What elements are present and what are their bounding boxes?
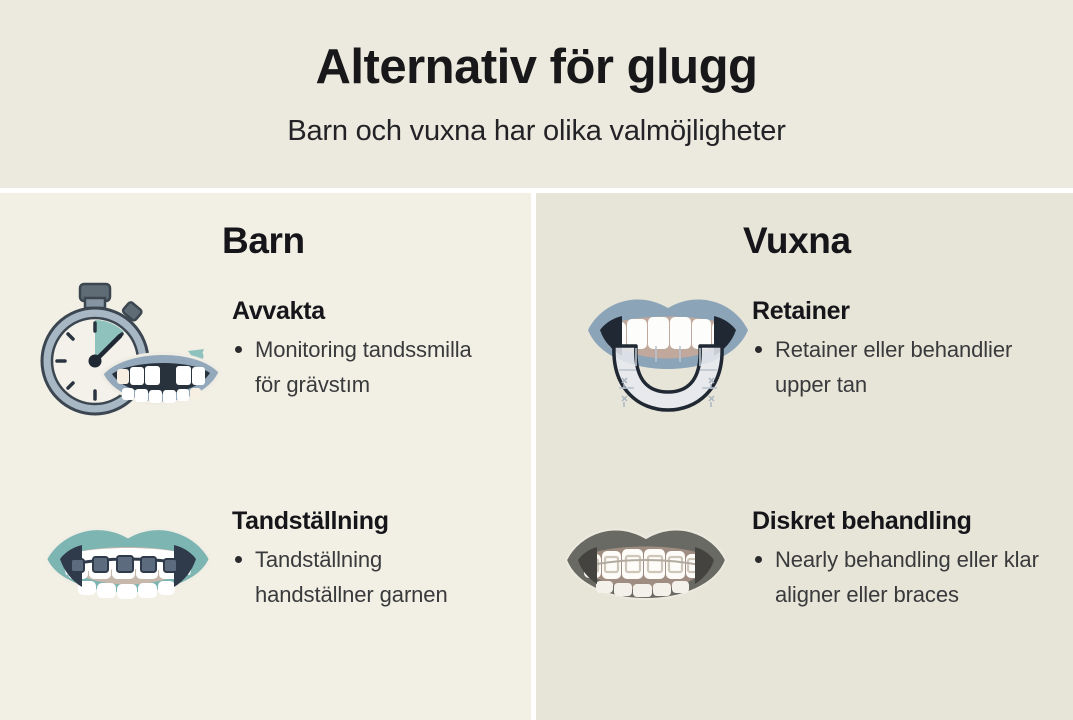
entry-bullet-diskret-behandling: Nearly behandling eller klar aligner ell… [752, 542, 1042, 612]
entry-title-diskret-behandling: Diskret behandling [752, 507, 1042, 536]
stopwatch-gap-smile-icon [38, 278, 228, 443]
clear-aligner-smile-icon [556, 516, 736, 626]
entry-text-avvakta: Avvakta Monitoring tandssmilla för grävs… [232, 297, 492, 402]
panel-adults: Vuxna [536, 193, 1073, 720]
page-subtitle: Barn och vuxna har olika valmöjligheter [0, 115, 1073, 148]
entry-bullet-text: Tandställning handställner garnen [255, 547, 448, 607]
entry-diskret-behandling: Diskret behandling Nearly behandling ell… [536, 488, 1073, 648]
entry-bullet-retainer: Retainer eller behandlier upper tan [752, 332, 1032, 402]
page-title: Alternativ för glugg [0, 40, 1073, 95]
entry-bullet-text: Retainer eller behandlier upper tan [775, 337, 1012, 397]
header-banner: Alternativ för glugg Barn och vuxna har … [0, 0, 1073, 188]
entry-text-tandstallning: Tandställning Tandställning handställner… [232, 507, 502, 612]
entry-avvakta: Avvakta Monitoring tandssmilla för grävs… [0, 278, 531, 458]
comparison-panels: Barn [0, 193, 1073, 720]
entry-text-retainer: Retainer Retainer eller behandlier upper… [752, 297, 1032, 402]
entry-bullet-tandstallning: Tandställning handställner garnen [232, 542, 502, 612]
bullet-dot [755, 556, 762, 563]
bullet-dot [235, 556, 242, 563]
entry-title-retainer: Retainer [752, 297, 1032, 326]
entry-text-diskret-behandling: Diskret behandling Nearly behandling ell… [752, 507, 1042, 612]
braces-smile-icon [38, 513, 218, 623]
panel-heading-children: Barn [222, 220, 305, 262]
infographic-root: Alternativ för glugg Barn och vuxna har … [0, 0, 1073, 720]
entry-bullet-text: Monitoring tandssmilla för grävstım [255, 337, 472, 397]
entry-bullet-avvakta: Monitoring tandssmilla för grävstım [232, 332, 492, 402]
retainer-tray-smile-icon [578, 286, 758, 421]
entry-retainer: Retainer Retainer eller behandlier upper… [536, 278, 1073, 458]
entry-title-tandstallning: Tandställning [232, 507, 502, 536]
bullet-dot [755, 346, 762, 353]
panel-heading-adults: Vuxna [743, 220, 851, 262]
entry-tandstallning: Tandställning Tandställning handställner… [0, 488, 531, 648]
bullet-dot [235, 346, 242, 353]
entry-bullet-text: Nearly behandling eller klar aligner ell… [775, 547, 1039, 607]
panel-children: Barn [0, 193, 531, 720]
entry-title-avvakta: Avvakta [232, 297, 492, 326]
